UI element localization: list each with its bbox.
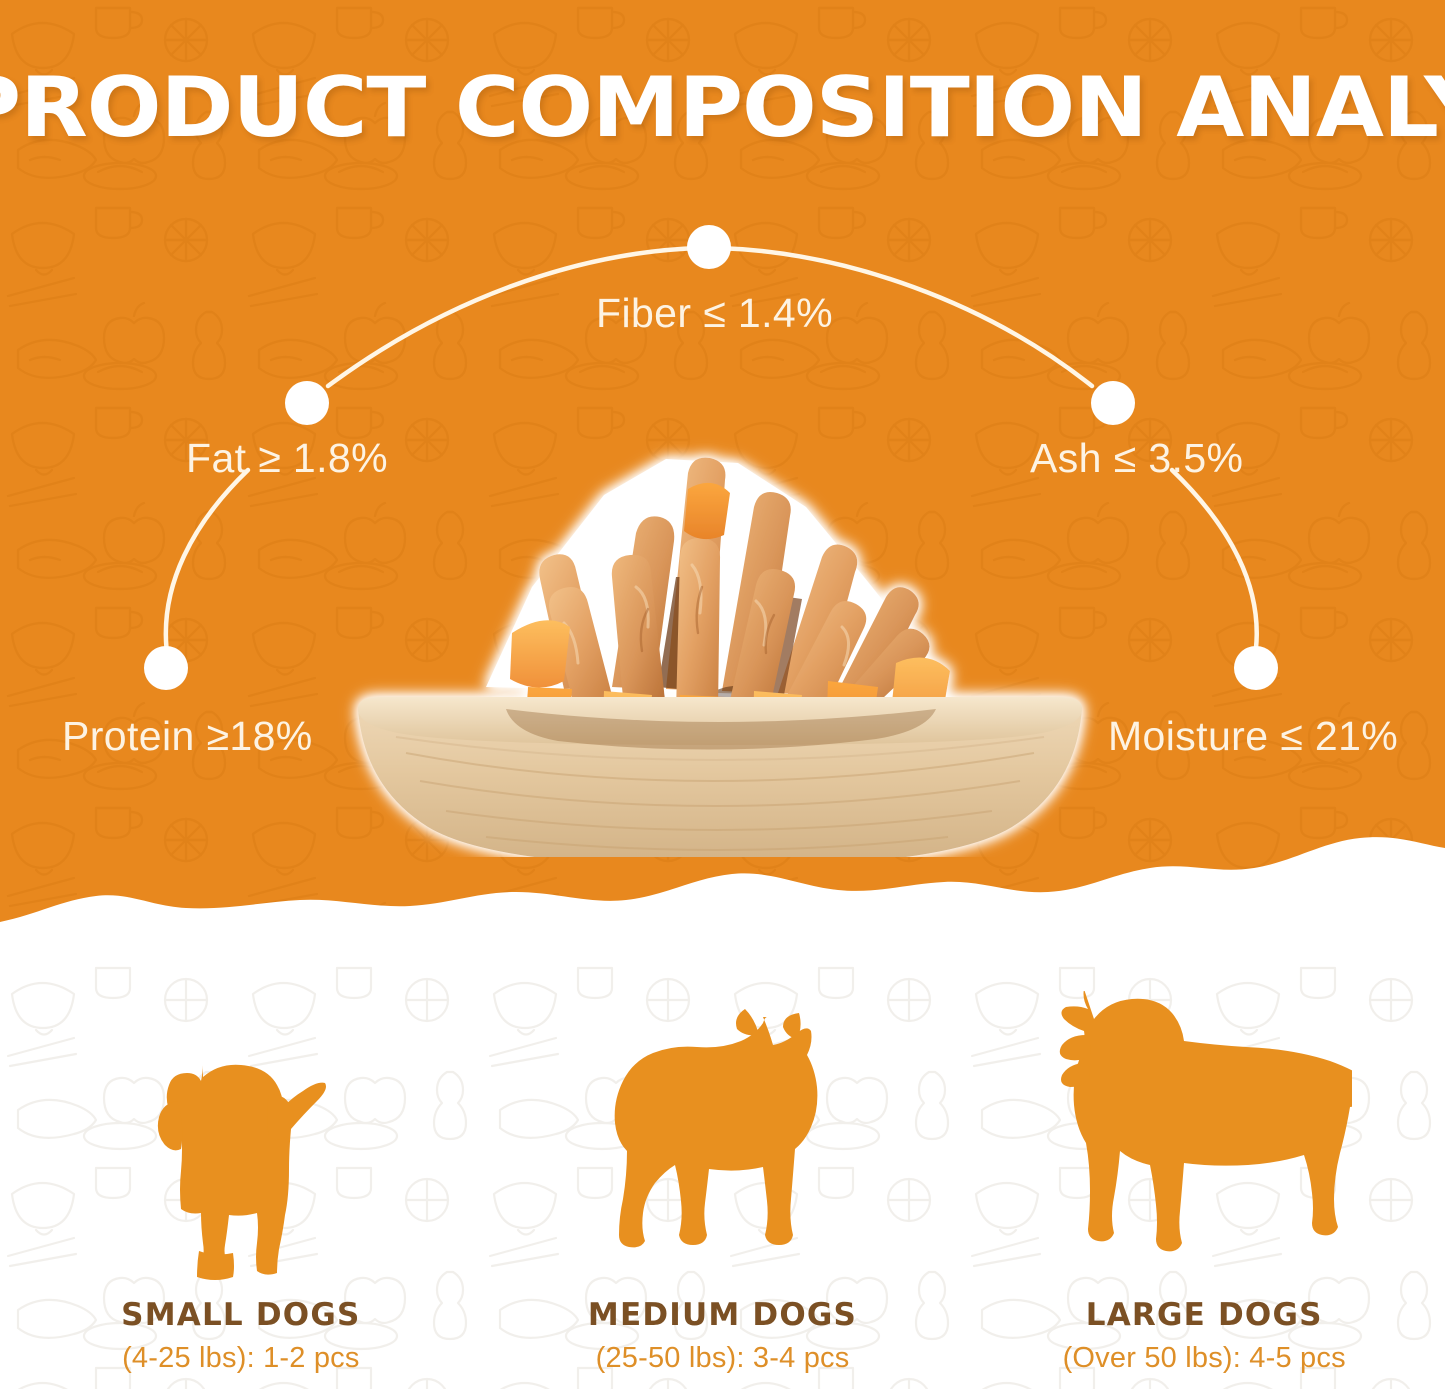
feeding-guide-title-small: SMALL DOGS [121,1297,360,1333]
feeding-guide-detail-small: (4-25 lbs): 1-2 pcs [122,1342,360,1375]
large-dog-silhouette-icon [1056,991,1352,1285]
feeding-guide-detail-large: (Over 50 lbs): 4-5 pcs [1063,1342,1346,1375]
feeding-guide-item-small: SMALL DOGS (4-25 lbs): 1-2 pcs [0,960,482,1389]
page-title: PRODUCT COMPOSITION ANALYSIS [0,66,1445,149]
medium-dog-art [603,985,843,1285]
feeding-guide-item-medium: MEDIUM DOGS (25-50 lbs): 3-4 pcs [482,960,964,1389]
feeding-guide-row: SMALL DOGS (4-25 lbs): 1-2 pcs MEDIUM DO… [0,960,1445,1389]
feeding-guide-detail-medium: (25-50 lbs): 3-4 pcs [596,1342,850,1375]
medium-dog-silhouette-icon [603,1003,843,1285]
product-photo-bowl-of-treats [336,437,1104,857]
large-dog-art [1056,985,1352,1285]
feeding-guide-panel: SMALL DOGS (4-25 lbs): 1-2 pcs MEDIUM DO… [0,960,1445,1389]
callout-label-fiber: Fiber ≤ 1.4% [596,290,833,337]
small-dog-art [141,985,341,1285]
infographic-canvas: PRODUCT COMPOSITION ANALYSIS [0,0,1445,1389]
callout-label-moisture: Moisture ≤ 21% [1108,713,1398,760]
feeding-guide-title-medium: MEDIUM DOGS [588,1297,857,1333]
callout-label-protein: Protein ≥18% [62,713,313,760]
feeding-guide-item-large: LARGE DOGS (Over 50 lbs): 4-5 pcs [963,960,1445,1389]
composition-panel: PRODUCT COMPOSITION ANALYSIS [0,0,1445,1000]
small-dog-silhouette-icon [141,1053,341,1285]
feeding-guide-title-large: LARGE DOGS [1086,1297,1323,1333]
